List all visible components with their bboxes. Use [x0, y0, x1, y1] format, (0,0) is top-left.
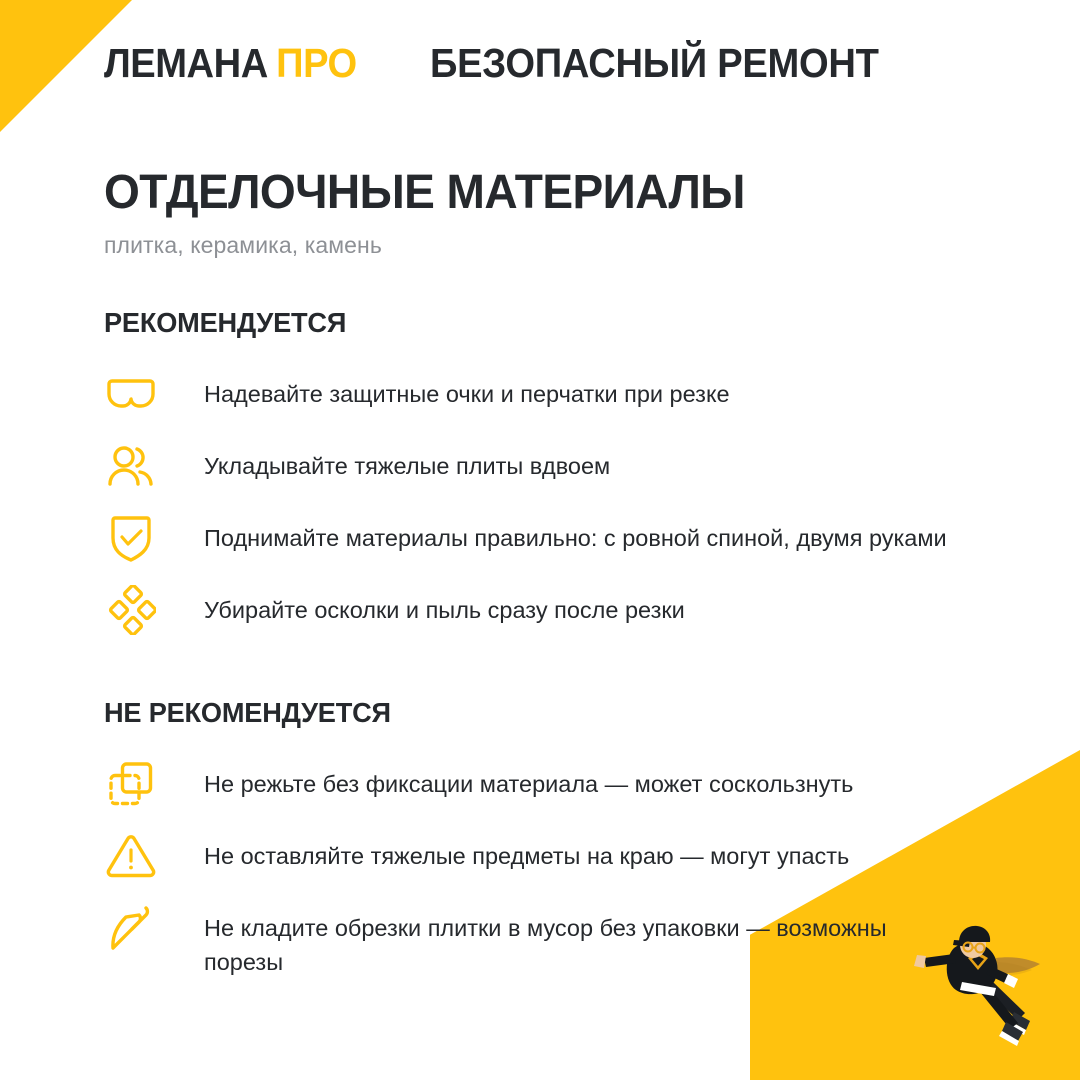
not-recommended-list: Не режьте без фиксации материала — может…: [104, 759, 980, 979]
content: ОТДЕЛОЧНЫЕ МАТЕРИАЛЫ плитка, керамика, к…: [104, 168, 980, 979]
list-item: Поднимайте материалы правильно: с ровной…: [104, 513, 980, 563]
list-item: Не оставляйте тяжелые предметы на краю —…: [104, 831, 980, 881]
two-people-icon: [104, 441, 158, 491]
list-item-text: Надевайте защитные очки и перчатки при р…: [204, 369, 730, 411]
unfixed-frame-icon: [104, 759, 158, 809]
header: ЛЕМАНА ПРО БЕЗОПАСНЫЙ РЕМОНТ: [104, 40, 912, 87]
section-recommended: РЕКОМЕНДУЕТСЯ Надевайте защитные очки и …: [104, 307, 980, 635]
flying-superhero-mascot: [910, 922, 1060, 1048]
poster: ЛЕМАНА ПРО БЕЗОПАСНЫЙ РЕМОНТ ОТДЕЛОЧНЫЕ …: [0, 0, 1080, 1080]
logo-pro-text: ПРО: [276, 40, 357, 87]
campaign-title: БЕЗОПАСНЫЙ РЕМОНТ: [430, 40, 879, 87]
safety-goggles-icon: [104, 369, 158, 419]
recommended-list: Надевайте защитные очки и перчатки при р…: [104, 369, 980, 635]
knife-blade-icon: [104, 903, 158, 953]
section-heading-not-recommended: НЕ РЕКОМЕНДУЕТСЯ: [104, 697, 954, 729]
list-item-text: Укладывайте тяжелые плиты вдвоем: [204, 441, 610, 483]
shield-check-icon: [104, 513, 158, 563]
list-item: Укладывайте тяжелые плиты вдвоем: [104, 441, 980, 491]
list-item-text: Убирайте осколки и пыль сразу после резк…: [204, 585, 685, 627]
list-item: Не кладите обрезки плитки в мусор без уп…: [104, 903, 980, 979]
list-item-text: Не режьте без фиксации материала — может…: [204, 759, 853, 801]
list-item: Надевайте защитные очки и перчатки при р…: [104, 369, 980, 419]
warning-triangle-icon: [104, 831, 158, 881]
logo-lemana-text: ЛЕМАНА: [104, 40, 268, 87]
page-subtitle: плитка, керамика, камень: [104, 232, 980, 259]
list-item: Не режьте без фиксации материала — может…: [104, 759, 980, 809]
list-item-text: Не оставляйте тяжелые предметы на краю —…: [204, 831, 849, 873]
brand-logo: ЛЕМАНА ПРО: [104, 40, 357, 87]
list-item: Убирайте осколки и пыль сразу после резк…: [104, 585, 980, 635]
section-not-recommended: НЕ РЕКОМЕНДУЕТСЯ Не режьте без фиксации …: [104, 697, 980, 979]
list-item-text: Не кладите обрезки плитки в мусор без уп…: [204, 903, 964, 979]
list-item-text: Поднимайте материалы правильно: с ровной…: [204, 513, 947, 555]
four-diamonds-icon: [104, 585, 158, 635]
page-title: ОТДЕЛОЧНЫЕ МАТЕРИАЛЫ: [104, 168, 945, 218]
section-heading-recommended: РЕКОМЕНДУЕТСЯ: [104, 307, 954, 339]
